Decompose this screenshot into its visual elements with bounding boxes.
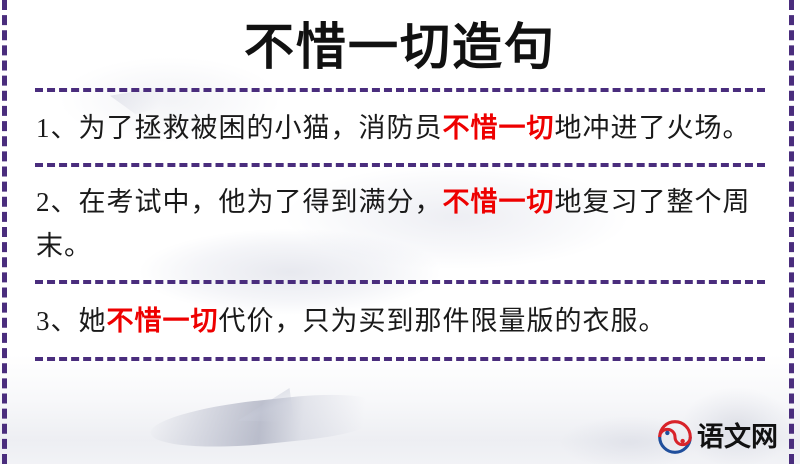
sentence-item-1: 1、为了拯救被困的小猫，消防员不惜一切地冲进了火场。 <box>34 92 766 163</box>
sentence-3-highlight: 不惜一切 <box>107 306 219 336</box>
dashed-border-left <box>2 0 7 464</box>
slide-canvas: 不惜一切造句 1、为了拯救被困的小猫，消防员不惜一切地冲进了火场。 2、在考试中… <box>0 0 800 464</box>
yinyang-circle-logo-icon <box>658 420 692 454</box>
dashed-border-right <box>789 0 794 464</box>
sentence-1-before: 为了拯救被困的小猫，消防员 <box>79 113 443 143</box>
sentence-1-highlight: 不惜一切 <box>443 113 555 143</box>
sentence-2-before: 在考试中，他为了得到满分， <box>79 187 443 217</box>
sentence-2-highlight: 不惜一切 <box>443 187 555 217</box>
site-logo-text: 语文网 <box>697 424 778 451</box>
sentence-3-index: 3、 <box>36 306 79 336</box>
sentence-1-index: 1、 <box>36 113 79 143</box>
slide-content: 不惜一切造句 1、为了拯救被困的小猫，消防员不惜一切地冲进了火场。 2、在考试中… <box>0 0 800 464</box>
sentence-item-2: 2、在考试中，他为了得到满分，不惜一切地复习了整个周末。 <box>34 167 766 280</box>
divider-bottom <box>35 357 765 361</box>
sentence-3-before: 她 <box>79 306 107 336</box>
site-logo[interactable]: 语文网 <box>658 420 778 454</box>
sentence-3-after: 代价，只为买到那件限量版的衣服。 <box>219 306 667 336</box>
sentence-2-index: 2、 <box>36 187 79 217</box>
sentence-1-after: 地冲进了火场。 <box>555 113 751 143</box>
page-title: 不惜一切造句 <box>34 0 766 88</box>
sentence-item-3: 3、她不惜一切代价，只为买到那件限量版的衣服。 <box>34 284 766 357</box>
